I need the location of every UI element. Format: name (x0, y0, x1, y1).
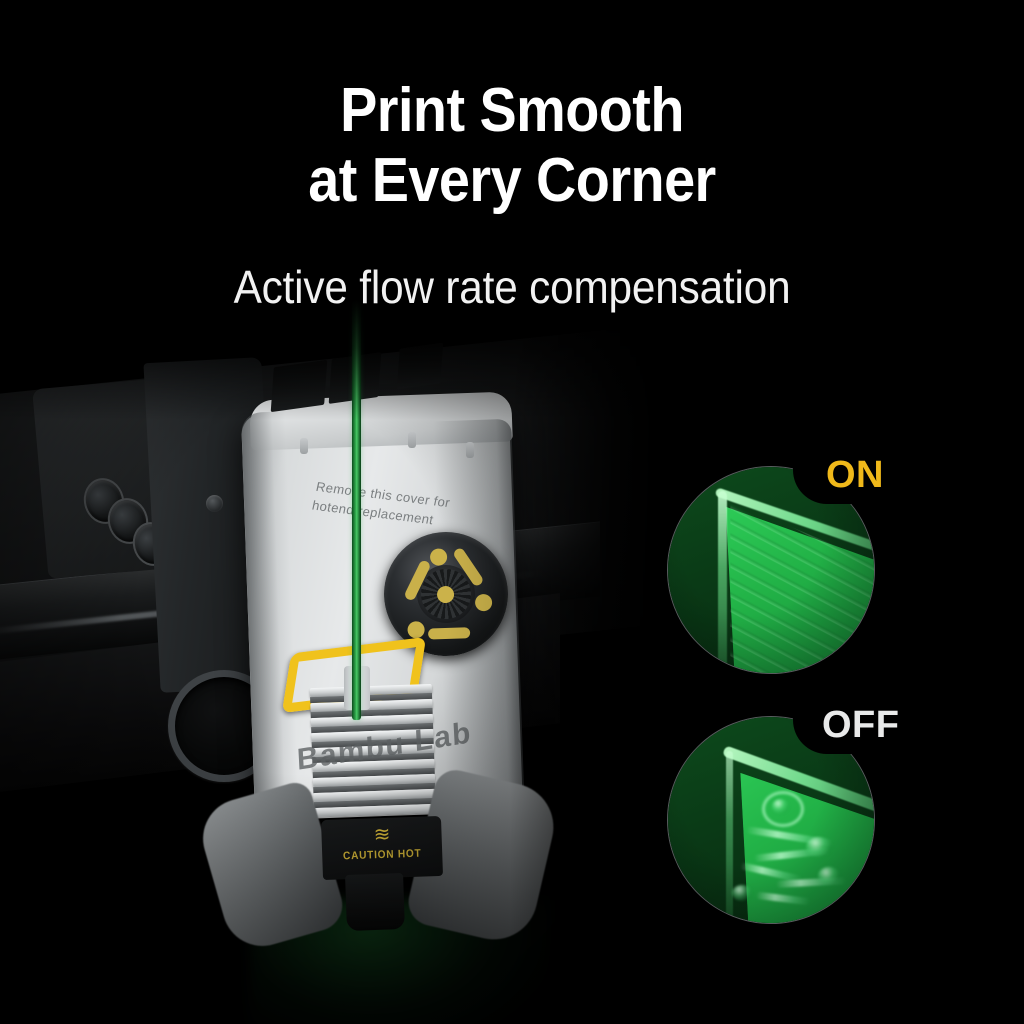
vent-slot (397, 343, 443, 390)
screw-head (206, 495, 223, 512)
gear-marking-dot (429, 548, 448, 567)
caution-hot-text: CAUTION HOT (327, 847, 438, 863)
printer-hotend-photo: Remove this cover for hotend replacement (0, 300, 660, 1024)
housing-tab (466, 442, 474, 458)
promo-image: Remove this cover for hotend replacement (0, 0, 1024, 1024)
subheadline: Active flow rate compensation (41, 262, 983, 313)
headline-block: Print Smooth at Every Corner (0, 76, 1024, 216)
gear-marking-arc (428, 627, 470, 639)
housing-tab (408, 432, 416, 448)
status-badge-off: OFF (822, 706, 899, 744)
heat-waves-icon: ≋ (364, 824, 399, 845)
headline-line-1: Print Smooth (51, 76, 973, 146)
gear-marking-dot (474, 593, 493, 612)
status-badge-on: ON (826, 456, 884, 494)
nozzle-assembly (345, 873, 405, 931)
green-filament (352, 300, 361, 720)
gear-marking-dot (407, 620, 426, 639)
vent-slot (271, 360, 328, 412)
caution-label-plate: ≋ CAUTION HOT (321, 816, 443, 880)
housing-tab (300, 438, 308, 454)
headline-line-2: at Every Corner (51, 146, 973, 216)
